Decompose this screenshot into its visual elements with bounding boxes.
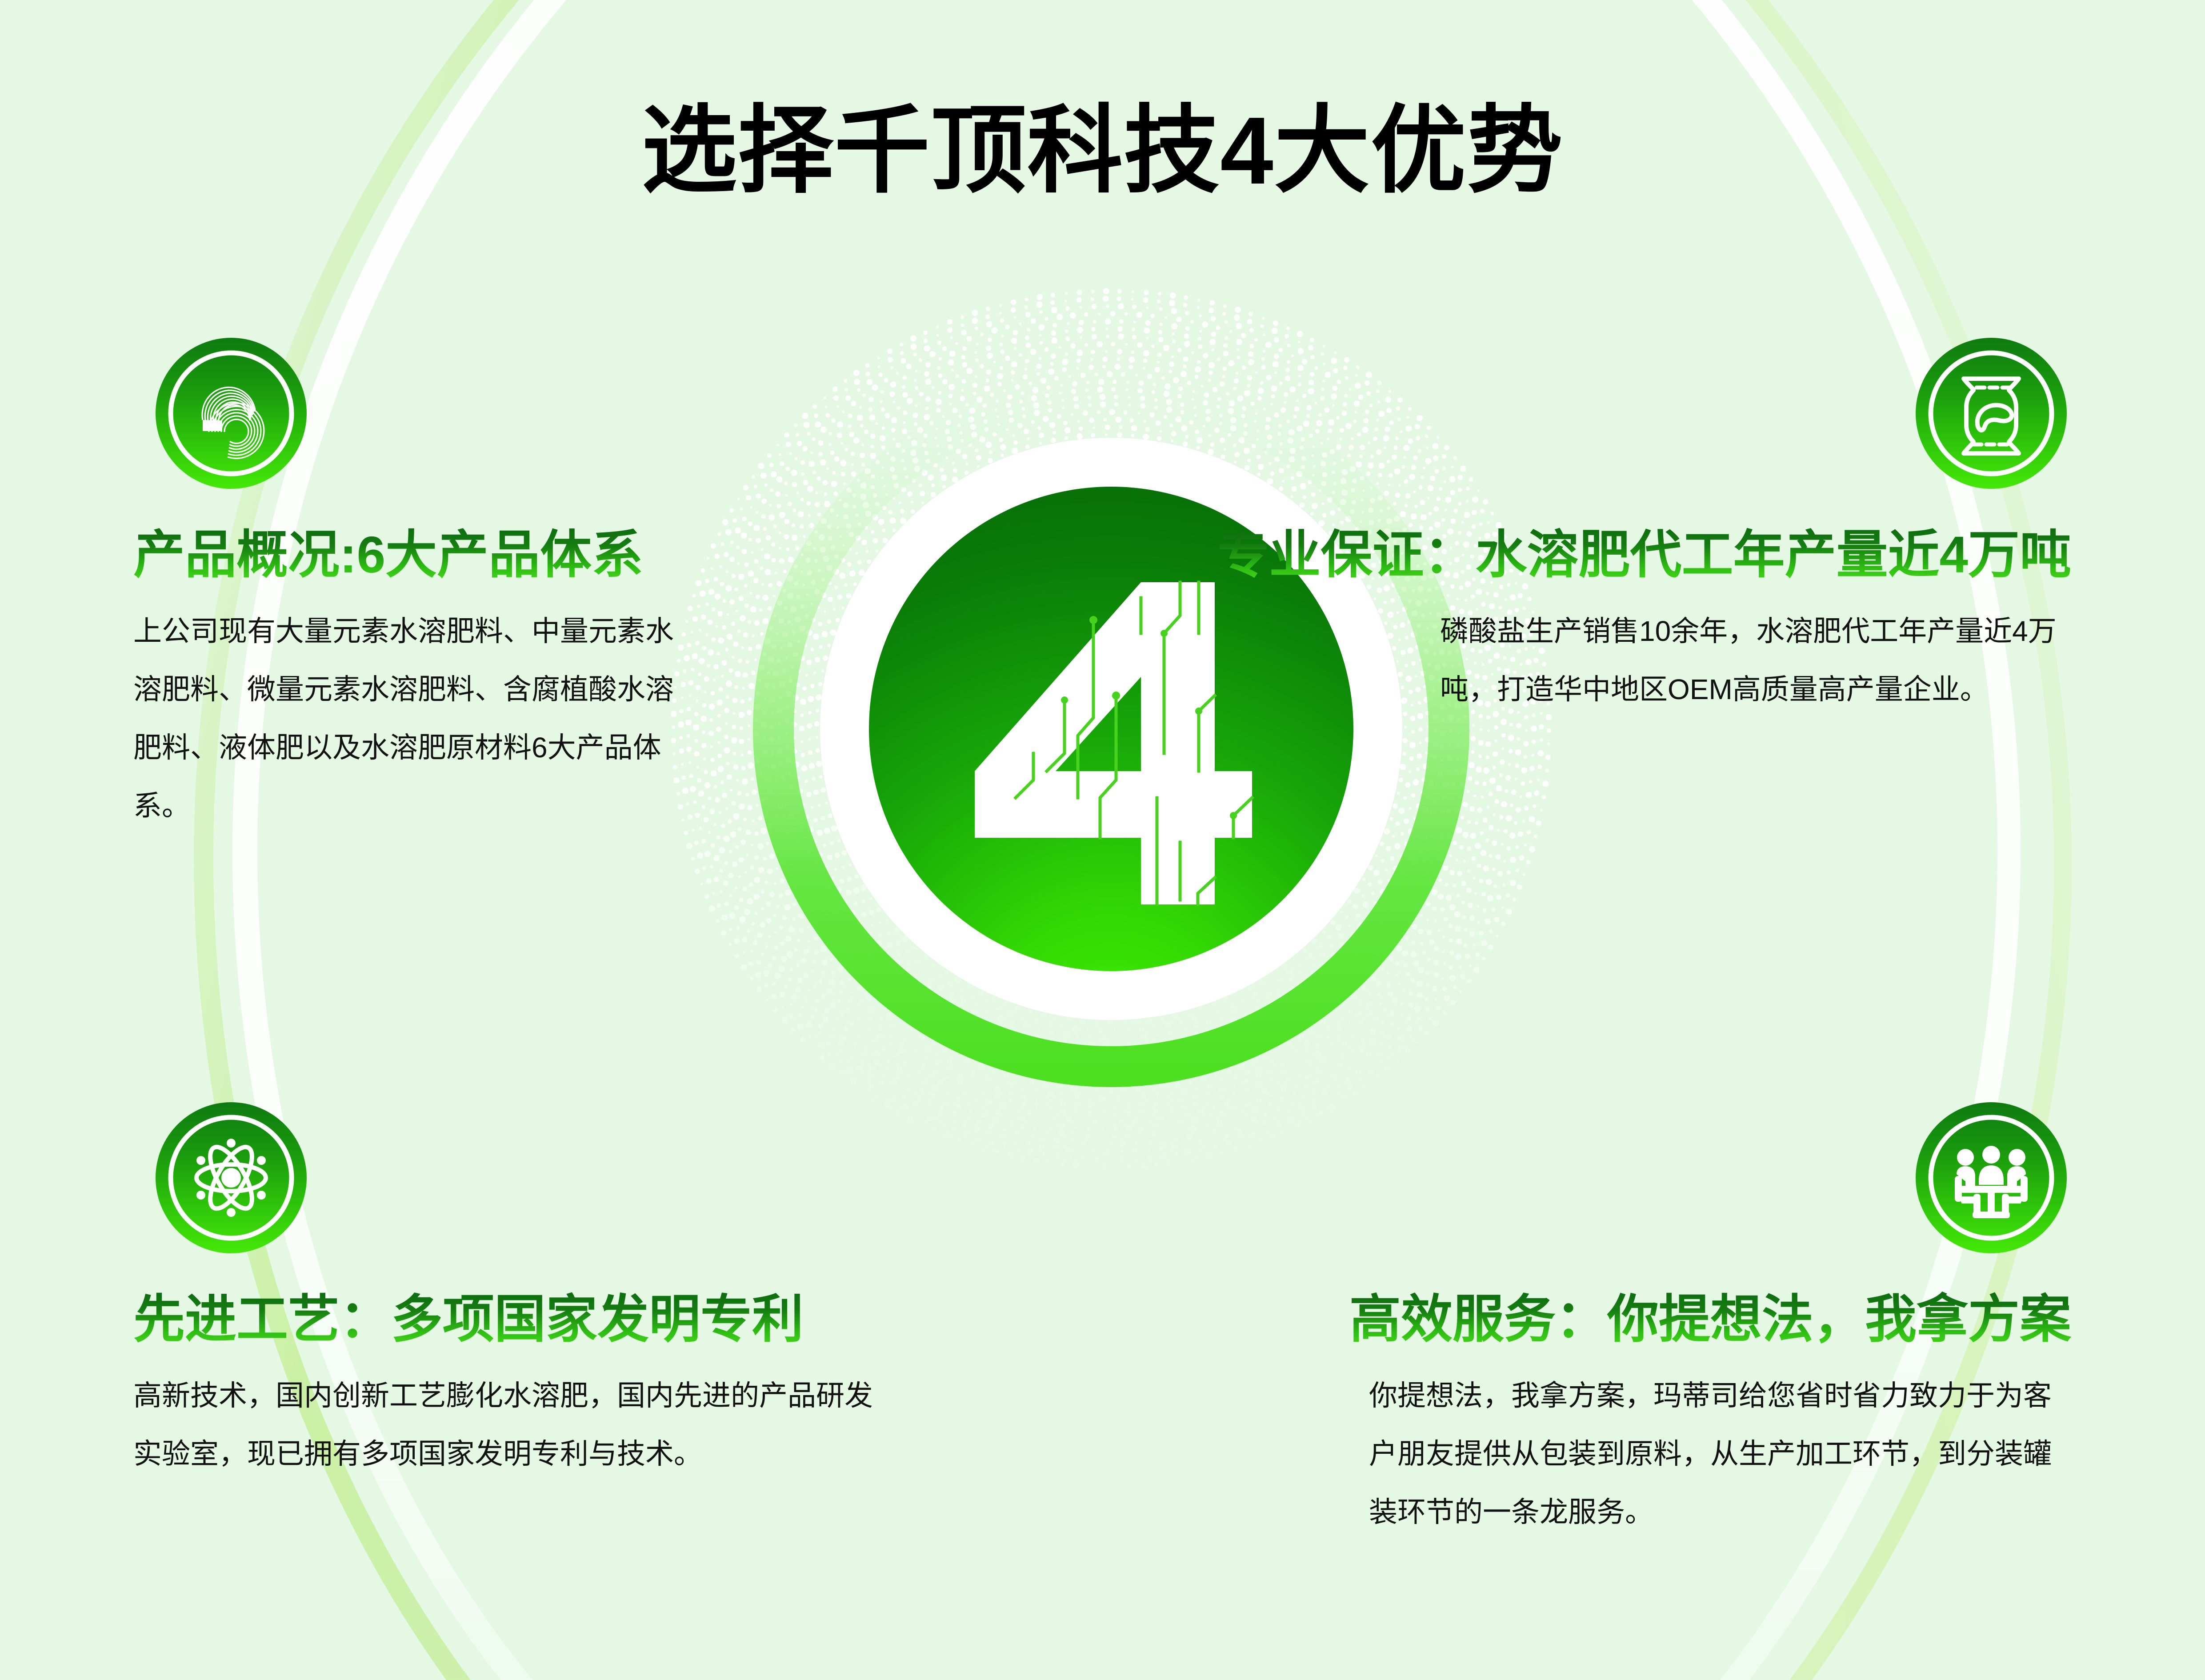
feature-body: 你提想法，我拿方案，玛蒂司给您省时省力致力于为客户朋友提供从包装到原料，从生产加… bbox=[1369, 1367, 2071, 1542]
fertilizer-bag-icon bbox=[1916, 338, 2067, 489]
poster-stage: 选择千顶科技4大优势 bbox=[0, 0, 2205, 1680]
feature-heading: 先进工艺：多项国家发明专利 bbox=[133, 1289, 916, 1350]
six-arcs-icon bbox=[156, 338, 307, 489]
feature-heading: 高效服务：你提想法，我拿方案 bbox=[1311, 1289, 2071, 1350]
page-title: 选择千顶科技4大优势 bbox=[0, 96, 2205, 205]
feature-body: 上公司现有大量元素水溶肥料、中量元素水溶肥料、微量元素水溶肥料、含腐植酸水溶肥料… bbox=[133, 602, 684, 836]
feature-body: 磷酸盐生产销售10余年，水溶肥代工年产量近4万吨，打造华中地区OEM高质量高产量… bbox=[1440, 602, 2071, 719]
feature-heading: 产品概况:6大产品体系 bbox=[133, 524, 711, 585]
feature-heading: 专业保证：水溶肥代工年产量近4万吨 bbox=[1191, 524, 2071, 585]
feature-block-efficient-service: 高效服务：你提想法，我拿方案 你提想法，我拿方案，玛蒂司给您省时省力致力于为客户… bbox=[1311, 1102, 2071, 1541]
feature-body: 高新技术，国内创新工艺膨化水溶肥，国内先进的产品研发实验室，现已拥有多项国家发明… bbox=[133, 1367, 889, 1483]
feature-block-product-overview: 产品概况:6大产品体系 上公司现有大量元素水溶肥料、中量元素水溶肥料、微量元素水… bbox=[133, 338, 711, 836]
atom-icon bbox=[156, 1102, 307, 1253]
meeting-table-icon bbox=[1916, 1102, 2067, 1253]
feature-block-professional-guarantee: 专业保证：水溶肥代工年产量近4万吨 磷酸盐生产销售10余年，水溶肥代工年产量近4… bbox=[1191, 338, 2071, 719]
feature-block-advanced-process: 先进工艺：多项国家发明专利 高新技术，国内创新工艺膨化水溶肥，国内先进的产品研发… bbox=[133, 1102, 916, 1483]
